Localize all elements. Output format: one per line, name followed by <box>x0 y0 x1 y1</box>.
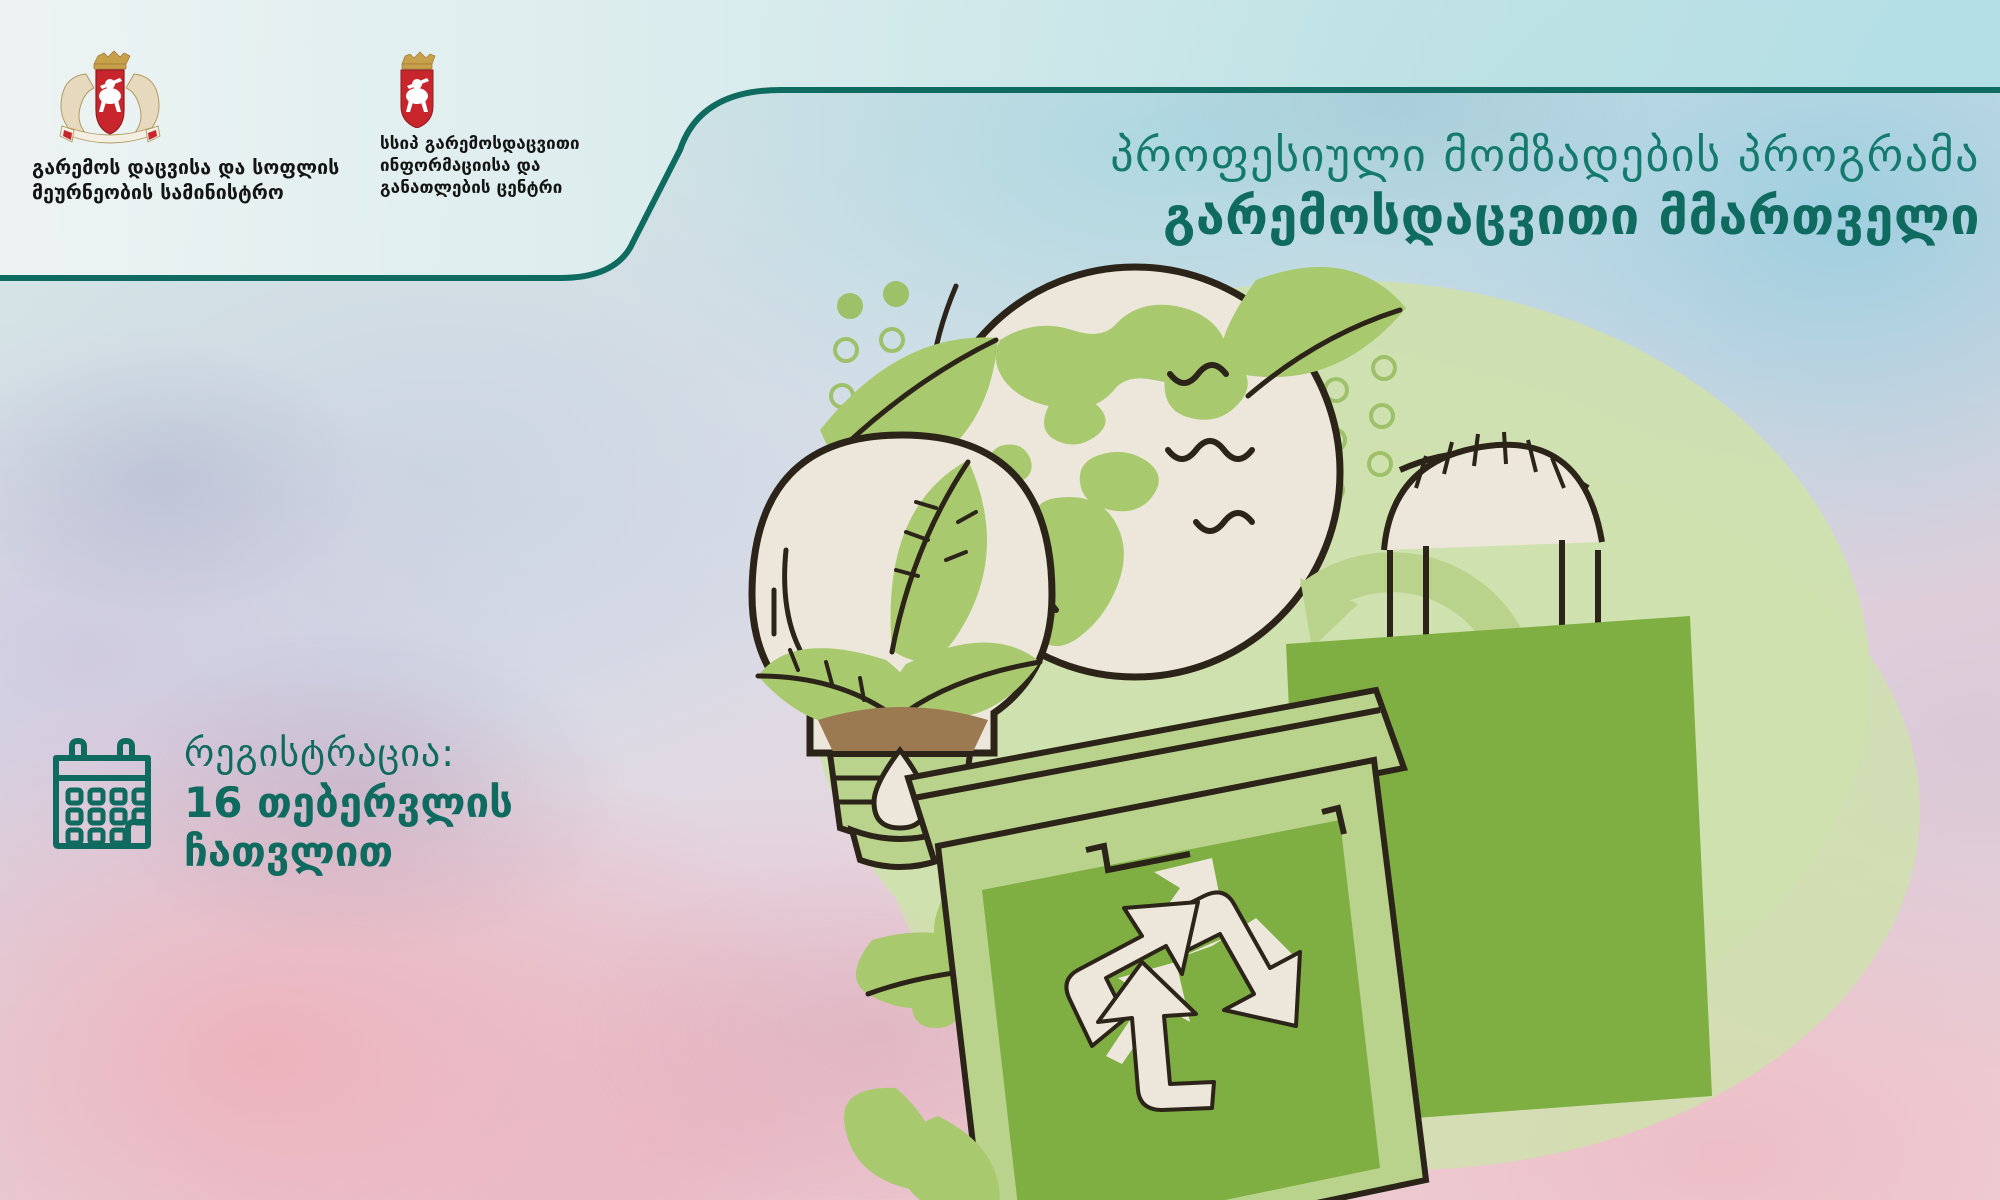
registration-text: რეგისტრაცია: 16 თებერვლის ჩათვლით <box>184 720 513 877</box>
registration-date-line2: ჩათვლით <box>184 827 513 877</box>
program-title-line2: გარემოსდაცვითი მმართველი <box>690 188 1980 246</box>
calendar-icon <box>48 738 156 850</box>
registration-date-line1: 16 თებერვლის <box>184 778 513 828</box>
registration-block: რეგისტრაცია: 16 თებერვლის ჩათვლით <box>48 720 608 877</box>
recycle-bin-icon <box>908 690 1426 1200</box>
program-title-line1: პროფესიული მომზადების პროგრამა <box>690 130 1980 182</box>
ministry-name-line2: მეურნეობის სამინისტრო <box>32 181 372 206</box>
center-logo: სსიპ გარემოსდაცვითი ინფორმაციისა და განა… <box>380 50 650 199</box>
poster-canvas: გარემოს დაცვისა და სოფლის მეურნეობის სამ… <box>0 0 2000 1200</box>
ministry-logo-name: გარემოს დაცვისა და სოფლის მეურნეობის სამ… <box>32 156 372 206</box>
center-name-line2: ინფორმაციისა და <box>380 156 650 178</box>
center-logo-name: სსიპ გარემოსდაცვითი ინფორმაციისა და განა… <box>380 134 650 199</box>
georgia-small-arms-icon <box>386 50 448 128</box>
georgia-coat-of-arms-icon <box>50 48 170 148</box>
header-band: გარემოს დაცვისა და სოფლის მეურნეობის სამ… <box>0 0 2000 290</box>
ministry-logo: გარემოს დაცვისა და სოფლის მეურნეობის სამ… <box>32 48 372 206</box>
registration-label: რეგისტრაცია: <box>184 732 513 776</box>
eco-illustration <box>700 250 2000 1200</box>
program-title: პროფესიული მომზადების პროგრამა გარემოსდა… <box>690 130 1980 246</box>
center-name-line3: განათლების ცენტრი <box>380 178 650 200</box>
center-name-line1: სსიპ გარემოსდაცვითი <box>380 134 650 156</box>
ministry-name-line1: გარემოს დაცვისა და სოფლის <box>32 156 372 181</box>
